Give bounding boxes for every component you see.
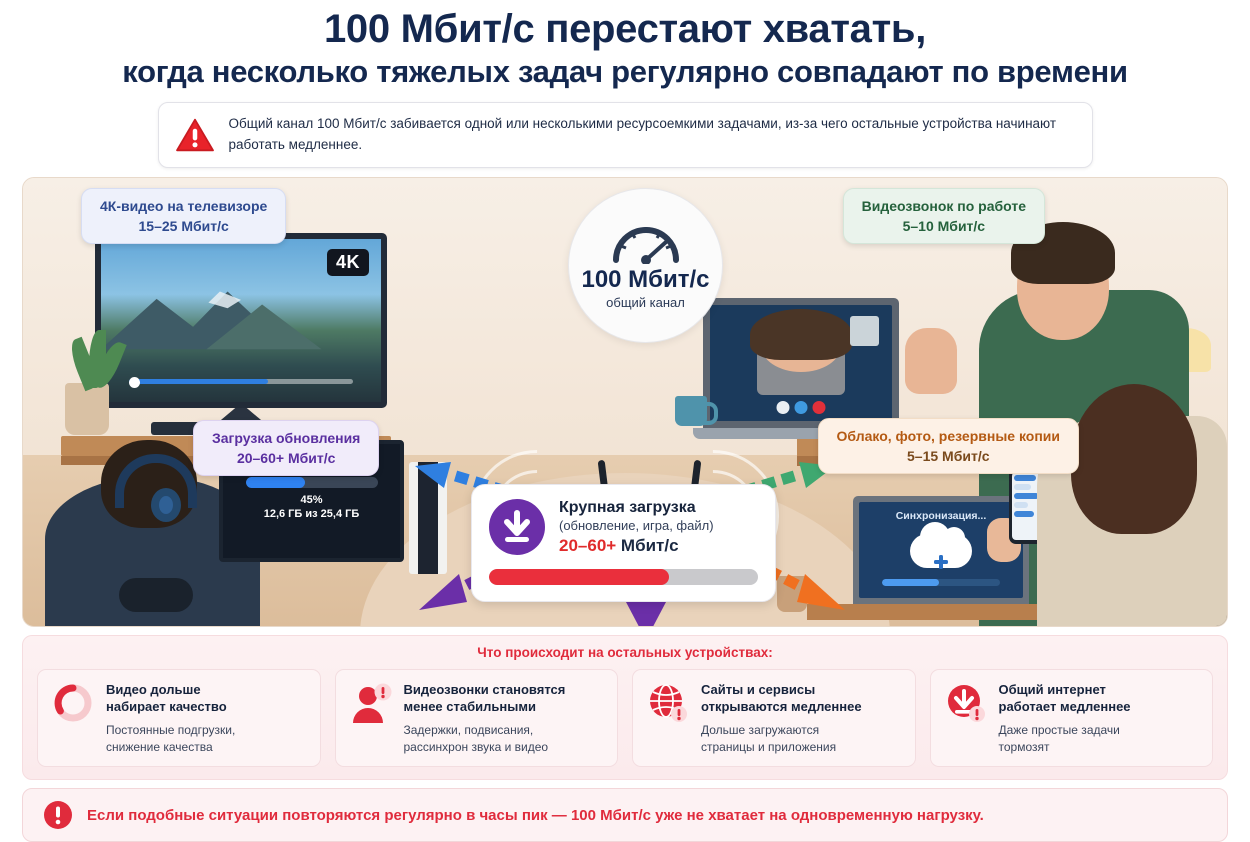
chip-tv-speed: 15–25 Мбит/с <box>100 217 267 236</box>
camera-button[interactable] <box>795 401 808 414</box>
download-card-speed-unit: Мбит/с <box>616 536 678 555</box>
speedometer-icon <box>610 220 682 264</box>
effect-card-desc-l2: снижение качества <box>106 740 213 754</box>
chat-bubble <box>1014 475 1036 481</box>
effect-card: Общий интернет работает медленнее Даже п… <box>930 669 1214 768</box>
effect-card-heading-l1: Общий интернет <box>999 682 1106 697</box>
videocall-screen <box>710 305 892 421</box>
effect-card-heading-l2: открываются медленнее <box>701 699 862 714</box>
mic-button[interactable] <box>777 401 790 414</box>
download-card-progress <box>489 569 758 585</box>
globe-alert-icon <box>646 681 690 725</box>
effect-card-heading-l2: набирает качество <box>106 699 227 714</box>
label-chip-cloud: Облако, фото, резервные копии 5–15 Мбит/… <box>818 418 1079 475</box>
effect-card: Видеозвонки становятся менее стабильными… <box>335 669 619 768</box>
download-card-title: Крупная загрузка <box>559 499 714 517</box>
call-controls <box>777 401 826 414</box>
exclamation-circle-icon <box>43 800 73 830</box>
gamepad-icon <box>119 578 193 612</box>
television: 4K <box>95 233 387 408</box>
chat-bubble <box>1014 484 1031 490</box>
tv-progress-bar <box>129 379 353 384</box>
effect-card-heading-l2: менее стабильными <box>404 699 536 714</box>
coffee-mug <box>675 396 707 426</box>
chat-bubble <box>1014 493 1039 499</box>
chat-bubble <box>1014 511 1034 517</box>
effects-card-list: Видео дольше набирает качество Постоянны… <box>37 669 1213 768</box>
label-chip-update: Загрузка обновления 20–60+ Мбит/с <box>193 420 379 477</box>
label-chip-videocall: Видеозвонок по работе 5–10 Мбит/с <box>843 188 1045 245</box>
gaming-monitor-progress <box>246 477 378 488</box>
download-card-speed-value: 20–60+ <box>559 536 616 555</box>
page-title-line1: 100 Мбит/с перестают хватать, <box>20 8 1230 51</box>
effect-card-heading-l1: Видео дольше <box>106 682 201 697</box>
end-call-button[interactable] <box>813 401 826 414</box>
callee-hair <box>750 309 852 360</box>
download-alert-icon <box>944 681 988 725</box>
headphone-earcup <box>151 488 181 522</box>
gauge-value: 100 Мбит/с <box>581 266 709 294</box>
effect-card-heading-l1: Видеозвонки становятся <box>404 682 566 697</box>
page-title-line2: когда несколько тяжелых задач регулярно … <box>20 54 1230 90</box>
download-card-subtitle: (обновление, игра, файл) <box>559 518 714 533</box>
top-alert-text: Общий канал 100 Мбит/с забивается одной … <box>229 114 1072 156</box>
gaming-monitor-percent: 45% <box>223 494 400 506</box>
cloud-plus-icon <box>931 552 951 572</box>
effect-card-desc-l1: Задержки, подвисания, <box>404 723 534 737</box>
bandwidth-gauge: 100 Мбит/с общий канал <box>568 188 723 343</box>
woman-hair <box>1071 384 1197 534</box>
conclusion-text: Если подобные ситуации повторяются регул… <box>87 807 984 824</box>
sync-progress-bar <box>882 579 1000 586</box>
effect-card: Видео дольше набирает качество Постоянны… <box>37 669 321 768</box>
conclusion-banner: Если подобные ситуации повторяются регул… <box>22 788 1228 842</box>
gauge-caption: общий канал <box>606 295 685 310</box>
effect-card-heading-l2: работает медленнее <box>999 699 1131 714</box>
effect-card-desc-l2: тормозят <box>999 740 1050 754</box>
effects-section: Что происходит на остальных устройствах:… <box>22 635 1228 781</box>
chip-update-title: Загрузка обновления <box>212 429 360 448</box>
top-alert-banner: Общий канал 100 Мбит/с забивается одной … <box>158 102 1093 168</box>
self-view-thumbnail <box>850 316 879 346</box>
effect-card-desc-l1: Постоянные подгрузки, <box>106 723 235 737</box>
warning-triangle-icon <box>175 117 215 153</box>
effect-card-desc-l2: страницы и приложения <box>701 740 836 754</box>
download-circle-icon <box>489 499 545 555</box>
buffering-ring-icon <box>51 681 95 725</box>
tv-4k-badge: 4K <box>327 249 369 276</box>
download-card-speed: 20–60+ Мбит/с <box>559 536 714 556</box>
chip-cloud-speed: 5–15 Мбит/с <box>837 447 1060 466</box>
effect-card-heading-l1: Сайты и сервисы <box>701 682 815 697</box>
page-header: 100 Мбит/с перестают хватать, когда неск… <box>0 0 1250 92</box>
chat-bubble <box>1014 502 1028 508</box>
chip-cloud-title: Облако, фото, резервные копии <box>837 427 1060 446</box>
person-alert-icon <box>349 681 393 725</box>
effect-card-desc-l2: рассинхрон звука и видео <box>404 740 549 754</box>
chip-call-speed: 5–10 Мбит/с <box>862 217 1026 236</box>
effect-card-desc-l1: Даже простые задачи <box>999 723 1120 737</box>
gaming-monitor-size: 12,6 ГБ из 25,4 ГБ <box>223 508 400 520</box>
effect-card-desc-l1: Дольше загружаются <box>701 723 819 737</box>
chip-call-title: Видеозвонок по работе <box>862 197 1026 216</box>
man-waving-hand <box>905 328 957 394</box>
chip-tv-title: 4К-видео на телевизоре <box>100 197 267 216</box>
large-download-card: Крупная загрузка (обновление, игра, файл… <box>471 484 776 602</box>
label-chip-tv: 4К-видео на телевизоре 15–25 Мбит/с <box>81 188 286 245</box>
effects-section-title: Что происходит на остальных устройствах: <box>37 645 1213 660</box>
chip-update-speed: 20–60+ Мбит/с <box>212 449 360 468</box>
effect-card: Сайты и сервисы открываются медленнее До… <box>632 669 916 768</box>
illustration-scene: 4K Загрузка обновления... 45% 12,6 ГБ из… <box>22 177 1228 627</box>
mountain-scenery-icon <box>101 284 381 349</box>
videocall-laptop <box>703 298 899 428</box>
